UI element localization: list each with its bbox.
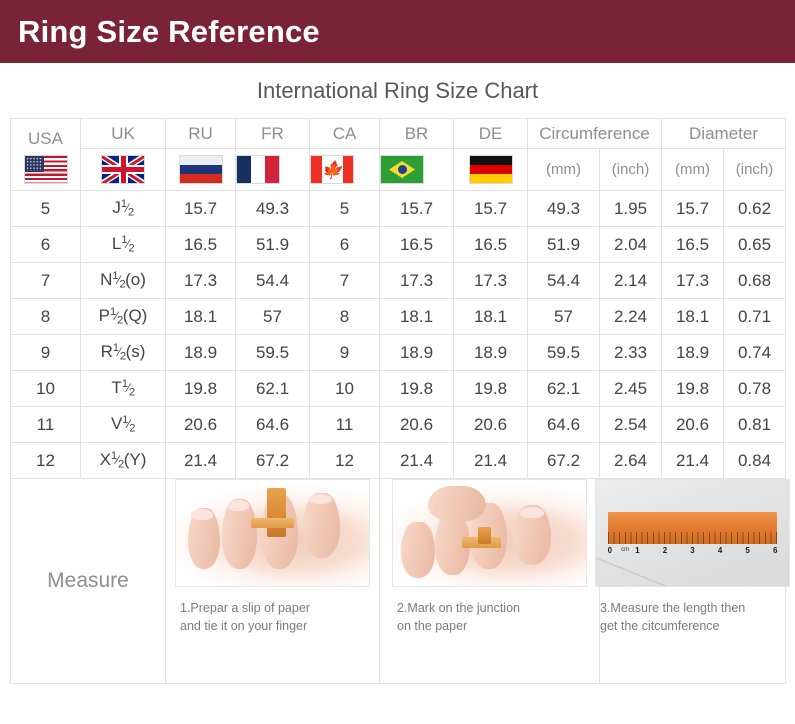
cell-cin: 2.54 bbox=[600, 407, 662, 443]
uk-fraction: 1⁄2 bbox=[121, 237, 134, 251]
cell-uk: X1⁄2(Y) bbox=[81, 443, 166, 479]
cell-de: 18.1 bbox=[454, 299, 528, 335]
uk-letter: T bbox=[111, 378, 121, 397]
cell-ru: 20.6 bbox=[166, 407, 236, 443]
uk-letter: P bbox=[99, 306, 110, 325]
uk-letter: L bbox=[112, 234, 121, 253]
ring-size-table: USA UK RU FR CA BR DE Circumference Diam… bbox=[10, 118, 786, 684]
header-label-de: DE bbox=[454, 119, 528, 149]
cell-ru: 16.5 bbox=[166, 227, 236, 263]
cell-fr: 62.1 bbox=[236, 371, 310, 407]
cell-usa: 11 bbox=[11, 407, 81, 443]
cell-de: 16.5 bbox=[454, 227, 528, 263]
header-flag-ru bbox=[166, 149, 236, 191]
table-row: 7N1⁄2(o)17.354.4717.317.354.42.1417.30.6… bbox=[11, 263, 786, 299]
header-flag-br bbox=[380, 149, 454, 191]
cell-din: 0.65 bbox=[724, 227, 786, 263]
chart-subtitle: International Ring Size Chart bbox=[257, 78, 538, 104]
table-row: 9R1⁄2(s)18.959.5918.918.959.52.3318.90.7… bbox=[11, 335, 786, 371]
ruler-tick: 1 bbox=[635, 546, 639, 555]
cell-ca: 11 bbox=[310, 407, 380, 443]
flag-brazil-icon bbox=[380, 155, 424, 184]
measure-step-3-photo: cm 0123456 bbox=[595, 479, 790, 587]
cell-dmm: 16.5 bbox=[662, 227, 724, 263]
header-flag-ca: 🍁 bbox=[310, 149, 380, 191]
cell-ca: 6 bbox=[310, 227, 380, 263]
cell-ru: 17.3 bbox=[166, 263, 236, 299]
cell-cmm: 57 bbox=[528, 299, 600, 335]
cell-din: 0.71 bbox=[724, 299, 786, 335]
cell-fr: 64.6 bbox=[236, 407, 310, 443]
header-sub-circumference-inch: (inch) bbox=[600, 149, 662, 191]
cell-cin: 2.33 bbox=[600, 335, 662, 371]
cell-de: 17.3 bbox=[454, 263, 528, 299]
flag-france-icon bbox=[236, 155, 280, 184]
cell-fr: 54.4 bbox=[236, 263, 310, 299]
uk-fraction: 1⁄2 bbox=[111, 453, 124, 467]
cell-usa: 9 bbox=[11, 335, 81, 371]
table-header: USA UK RU FR CA BR DE Circumference Diam… bbox=[11, 119, 786, 191]
uk-fraction: 1⁄2 bbox=[122, 417, 135, 431]
cell-br: 16.5 bbox=[380, 227, 454, 263]
table-row: 10T1⁄219.862.11019.819.862.12.4519.80.78 bbox=[11, 371, 786, 407]
measure-step-3-line1: 3.Measure the length then bbox=[600, 599, 785, 617]
table-body: 5J1⁄215.749.3515.715.749.31.9515.70.626L… bbox=[11, 191, 786, 479]
page-banner: Ring Size Reference bbox=[0, 0, 795, 63]
measure-step-1-caption: 1.Prepar a slip of paper and tie it on y… bbox=[180, 599, 365, 635]
uk-letter: J bbox=[112, 198, 121, 217]
table-row: 11V1⁄220.664.61120.620.664.62.5420.60.81 bbox=[11, 407, 786, 443]
cell-br: 18.1 bbox=[380, 299, 454, 335]
header-row-flags: 🍁 (mm) (inch) (mm) bbox=[11, 149, 786, 191]
measure-step-2-photo bbox=[392, 479, 587, 587]
cell-cmm: 62.1 bbox=[528, 371, 600, 407]
measure-step-1-line1: 1.Prepar a slip of paper bbox=[180, 599, 365, 617]
header-label-ru: RU bbox=[166, 119, 236, 149]
header-label-circumference: Circumference bbox=[528, 119, 662, 149]
cell-br: 15.7 bbox=[380, 191, 454, 227]
header-label-fr: FR bbox=[236, 119, 310, 149]
cell-usa: 8 bbox=[11, 299, 81, 335]
header-flag-de bbox=[454, 149, 528, 191]
cell-din: 0.78 bbox=[724, 371, 786, 407]
measure-step-1: 1.Prepar a slip of paper and tie it on y… bbox=[166, 479, 380, 684]
subtitle-container: International Ring Size Chart bbox=[0, 63, 795, 118]
uk-letter: V bbox=[111, 414, 122, 433]
cell-dmm: 18.9 bbox=[662, 335, 724, 371]
cell-de: 15.7 bbox=[454, 191, 528, 227]
cell-br: 19.8 bbox=[380, 371, 454, 407]
flag-canada-icon: 🍁 bbox=[310, 155, 354, 184]
cell-usa: 5 bbox=[11, 191, 81, 227]
table-row: 8P1⁄2(Q)18.157818.118.1572.2418.10.71 bbox=[11, 299, 786, 335]
cell-uk: P1⁄2(Q) bbox=[81, 299, 166, 335]
ring-size-table-container: USA UK RU FR CA BR DE Circumference Diam… bbox=[10, 118, 785, 684]
uk-suffix: (Q) bbox=[123, 306, 148, 325]
table-row: 12X1⁄2(Y)21.467.21221.421.467.22.6421.40… bbox=[11, 443, 786, 479]
ruler-tick: 0 bbox=[608, 546, 612, 555]
measure-step-1-line2: and tie it on your finger bbox=[180, 617, 365, 635]
cell-ca: 7 bbox=[310, 263, 380, 299]
cell-de: 19.8 bbox=[454, 371, 528, 407]
flag-germany-icon bbox=[469, 155, 513, 184]
cell-dmm: 17.3 bbox=[662, 263, 724, 299]
page-title: Ring Size Reference bbox=[18, 16, 320, 47]
cell-de: 18.9 bbox=[454, 335, 528, 371]
cell-din: 0.74 bbox=[724, 335, 786, 371]
measure-step-2-line2: on the paper bbox=[397, 617, 582, 635]
cell-ru: 21.4 bbox=[166, 443, 236, 479]
cell-usa: 12 bbox=[11, 443, 81, 479]
flag-uk-icon bbox=[101, 155, 145, 184]
cell-cmm: 54.4 bbox=[528, 263, 600, 299]
cell-uk: N1⁄2(o) bbox=[81, 263, 166, 299]
uk-letter: X bbox=[100, 450, 111, 469]
header-cell-usa: USA bbox=[11, 119, 81, 191]
cell-cin: 2.24 bbox=[600, 299, 662, 335]
measure-step-2-line1: 2.Mark on the junction bbox=[397, 599, 582, 617]
measure-step-2: 2.Mark on the junction on the paper bbox=[380, 479, 600, 684]
cell-usa: 10 bbox=[11, 371, 81, 407]
cell-ru: 18.9 bbox=[166, 335, 236, 371]
header-label-ca: CA bbox=[310, 119, 380, 149]
header-label-usa: USA bbox=[11, 125, 80, 155]
cell-cin: 2.04 bbox=[600, 227, 662, 263]
table-row: 5J1⁄215.749.3515.715.749.31.9515.70.62 bbox=[11, 191, 786, 227]
header-flag-uk bbox=[81, 149, 166, 191]
ruler-tick: 4 bbox=[718, 546, 722, 555]
uk-fraction: 1⁄2 bbox=[122, 381, 135, 395]
ruler-tick: 2 bbox=[663, 546, 667, 555]
cell-fr: 59.5 bbox=[236, 335, 310, 371]
uk-suffix: (o) bbox=[125, 270, 146, 289]
cell-din: 0.84 bbox=[724, 443, 786, 479]
cell-cmm: 51.9 bbox=[528, 227, 600, 263]
cell-ca: 5 bbox=[310, 191, 380, 227]
ruler-tick: 3 bbox=[690, 546, 694, 555]
measure-section: Measure bbox=[11, 479, 786, 684]
cell-fr: 49.3 bbox=[236, 191, 310, 227]
cell-br: 20.6 bbox=[380, 407, 454, 443]
header-row-labels: USA UK RU FR CA BR DE Circumference Diam… bbox=[11, 119, 786, 149]
cell-uk: L1⁄2 bbox=[81, 227, 166, 263]
cell-fr: 57 bbox=[236, 299, 310, 335]
cell-dmm: 20.6 bbox=[662, 407, 724, 443]
cell-dmm: 18.1 bbox=[662, 299, 724, 335]
cell-de: 20.6 bbox=[454, 407, 528, 443]
ring-size-reference-page: Ring Size Reference International Ring S… bbox=[0, 0, 795, 724]
cell-ru: 18.1 bbox=[166, 299, 236, 335]
cell-dmm: 15.7 bbox=[662, 191, 724, 227]
cell-br: 21.4 bbox=[380, 443, 454, 479]
cell-din: 0.68 bbox=[724, 263, 786, 299]
cell-dmm: 19.8 bbox=[662, 371, 724, 407]
cell-cmm: 49.3 bbox=[528, 191, 600, 227]
cell-ca: 9 bbox=[310, 335, 380, 371]
ruler-tick-labels: 0123456 bbox=[608, 546, 778, 555]
cell-cin: 2.14 bbox=[600, 263, 662, 299]
cell-cmm: 64.6 bbox=[528, 407, 600, 443]
header-label-uk: UK bbox=[81, 119, 166, 149]
ruler-tick: 5 bbox=[745, 546, 749, 555]
uk-fraction: 1⁄2 bbox=[113, 345, 126, 359]
cell-fr: 51.9 bbox=[236, 227, 310, 263]
cell-cmm: 67.2 bbox=[528, 443, 600, 479]
cell-cin: 2.64 bbox=[600, 443, 662, 479]
cell-uk: J1⁄2 bbox=[81, 191, 166, 227]
measure-step-2-caption: 2.Mark on the junction on the paper bbox=[397, 599, 582, 635]
cell-fr: 67.2 bbox=[236, 443, 310, 479]
cell-de: 21.4 bbox=[454, 443, 528, 479]
uk-fraction: 1⁄2 bbox=[112, 273, 125, 287]
cell-br: 18.9 bbox=[380, 335, 454, 371]
measure-step-3-line2: get the citcumference bbox=[600, 617, 785, 635]
measure-step-1-photo bbox=[175, 479, 370, 587]
measure-step-3: cm 0123456 3.Measure the length then get… bbox=[600, 479, 786, 684]
cell-uk: V1⁄2 bbox=[81, 407, 166, 443]
uk-fraction: 1⁄2 bbox=[121, 201, 134, 215]
cell-uk: T1⁄2 bbox=[81, 371, 166, 407]
header-label-br: BR bbox=[380, 119, 454, 149]
cell-ca: 8 bbox=[310, 299, 380, 335]
cell-din: 0.62 bbox=[724, 191, 786, 227]
measure-step-3-caption: 3.Measure the length then get the citcum… bbox=[600, 599, 785, 635]
header-sub-diameter-mm: (mm) bbox=[662, 149, 724, 191]
uk-fraction: 1⁄2 bbox=[110, 309, 123, 323]
cell-ca: 10 bbox=[310, 371, 380, 407]
flag-russia-icon bbox=[179, 155, 223, 184]
table-row: 6L1⁄216.551.9616.516.551.92.0416.50.65 bbox=[11, 227, 786, 263]
uk-suffix: (Y) bbox=[124, 450, 147, 469]
cell-uk: R1⁄2(s) bbox=[81, 335, 166, 371]
cell-ru: 19.8 bbox=[166, 371, 236, 407]
cell-cin: 1.95 bbox=[600, 191, 662, 227]
cell-usa: 7 bbox=[11, 263, 81, 299]
measure-row: Measure bbox=[11, 479, 786, 684]
header-flag-fr bbox=[236, 149, 310, 191]
cell-cmm: 59.5 bbox=[528, 335, 600, 371]
flag-usa-icon bbox=[24, 155, 68, 184]
cell-usa: 6 bbox=[11, 227, 81, 263]
ruler-tick: 6 bbox=[773, 546, 777, 555]
header-label-diameter: Diameter bbox=[662, 119, 786, 149]
cell-din: 0.81 bbox=[724, 407, 786, 443]
cell-ca: 12 bbox=[310, 443, 380, 479]
cell-ru: 15.7 bbox=[166, 191, 236, 227]
uk-suffix: (s) bbox=[126, 342, 146, 361]
header-sub-circumference-mm: (mm) bbox=[528, 149, 600, 191]
uk-letter: R bbox=[101, 342, 113, 361]
cell-cin: 2.45 bbox=[600, 371, 662, 407]
cell-dmm: 21.4 bbox=[662, 443, 724, 479]
cell-br: 17.3 bbox=[380, 263, 454, 299]
header-sub-diameter-inch: (inch) bbox=[724, 149, 786, 191]
uk-letter: N bbox=[100, 270, 112, 289]
measure-label: Measure bbox=[11, 479, 166, 684]
